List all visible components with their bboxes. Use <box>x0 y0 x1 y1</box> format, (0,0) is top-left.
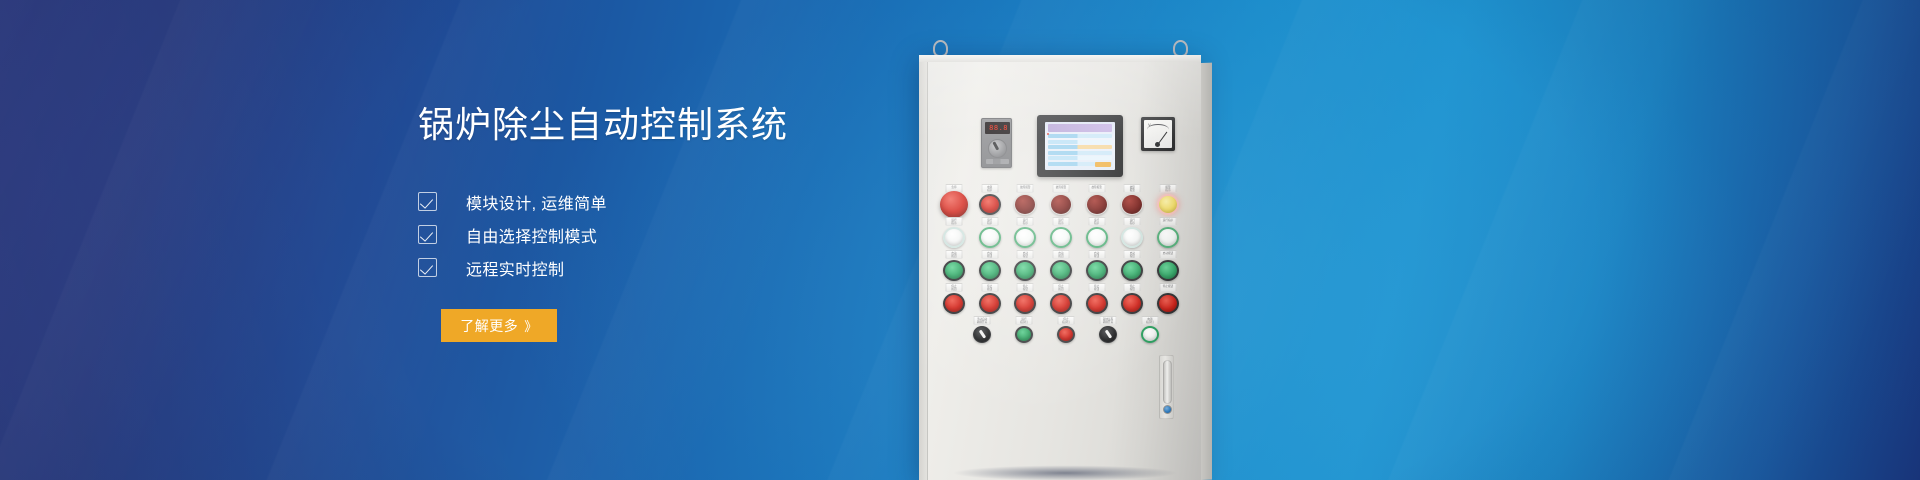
start-button[interactable]: 启动 按钮 <box>1121 259 1143 281</box>
hmi-data-row <box>1048 134 1112 138</box>
hmi-screen <box>1045 122 1115 170</box>
hero-copy: 锅炉除尘自动控制系统 模块设计, 运维简单 自由选择控制模式 远程实时控制 了解… <box>418 104 938 342</box>
vfd-digits: 88.8 <box>989 124 1008 132</box>
indicator-lamp[interactable]: 运行 指示 <box>1050 226 1072 248</box>
button-label: 启动 按钮 <box>1124 250 1141 259</box>
button-label: 运行 指示 <box>1124 217 1141 226</box>
button-cap <box>1057 326 1075 343</box>
cabinet-body: 88.8 <box>919 55 1201 480</box>
stop-button[interactable]: 停止 按钮 <box>943 292 965 314</box>
button-cap <box>943 227 965 248</box>
meter-hub <box>1155 142 1160 147</box>
stop-button[interactable]: 停止 按钮 <box>1086 292 1108 314</box>
indicator-lamp[interactable]: 停止 指示灯 <box>1057 325 1075 343</box>
stop-button[interactable]: 停止 按钮 <box>1121 292 1143 314</box>
button-cap <box>1086 194 1108 215</box>
hero-banner: 锅炉除尘自动控制系统 模块设计, 运维简单 自由选择控制模式 远程实时控制 了解… <box>0 0 1920 480</box>
button-label: 启动 按钮 <box>1052 250 1069 259</box>
indicator-lamp[interactable]: 故障 报警 <box>1121 193 1143 215</box>
button-cap <box>1121 293 1143 314</box>
stop-button[interactable]: 停止 按钮 <box>1014 292 1036 314</box>
list-item: 自由选择控制模式 <box>418 218 938 251</box>
button-label: 停止 按钮 <box>1124 283 1141 292</box>
stop-button[interactable]: 停止按钮 <box>1157 292 1179 314</box>
indicator-lamp[interactable]: 电源 指示灯 <box>1141 325 1159 343</box>
button-label: 运行 指示 <box>1088 217 1105 226</box>
button-label: 故障报警 <box>1017 184 1034 193</box>
button-cap <box>979 227 1001 248</box>
button-label: 启动 按钮 <box>1017 250 1034 259</box>
hmi-touch-panel <box>1037 115 1123 177</box>
checkbox-icon <box>418 192 437 211</box>
button-label: 电源 指示 <box>981 184 998 193</box>
button-label: 故障报警 <box>1088 184 1105 193</box>
button-label: 启动 按钮 <box>946 250 963 259</box>
button-label: 停止 按钮 <box>946 283 963 292</box>
button-cap <box>1086 293 1108 314</box>
button-label: 手动自动 转换开关 <box>974 316 991 325</box>
stop-button[interactable]: 停止 按钮 <box>979 292 1001 314</box>
button-cap <box>943 260 965 281</box>
vfd-controller: 88.8 <box>981 118 1012 168</box>
indicator-lamp[interactable]: 运行 指示 <box>1121 226 1143 248</box>
hmi-screen-rows <box>1045 134 1115 166</box>
indicator-lamp[interactable]: 运行 指示灯 <box>1015 325 1033 343</box>
button-label: 停止 指示灯 <box>1058 316 1075 325</box>
learn-more-button[interactable]: 了解更多 》 <box>441 309 557 342</box>
button-label: 运行 指示 <box>1017 217 1034 226</box>
handle-bar <box>1163 360 1172 404</box>
indicator-lamp[interactable]: 报警 指示 <box>1157 193 1179 215</box>
vfd-knob-icon <box>988 139 1007 158</box>
button-label: 电源 指示灯 <box>1142 316 1159 325</box>
button-cap <box>1157 227 1179 248</box>
page-title: 锅炉除尘自动控制系统 <box>418 104 938 145</box>
meter-face: V <box>1144 120 1172 148</box>
button-label: 停止 按钮 <box>1017 283 1034 292</box>
feature-label: 模块设计, 运维简单 <box>466 190 607 214</box>
hmi-screen-title-bar <box>1048 124 1112 132</box>
button-row: 启动 按钮 启动 按钮 启动 按钮 启动 按钮 <box>943 259 1179 281</box>
button-cap <box>1099 326 1117 343</box>
selector-switch[interactable]: 就地远程 转换开关 <box>1099 325 1117 343</box>
button-label: 运行 指示 <box>1052 217 1069 226</box>
button-cap <box>1050 260 1072 281</box>
vfd-buttons <box>986 159 1009 164</box>
button-row: 手动自动 转换开关 运行 指示灯 停止 指示灯 就地远程 转换开关 <box>943 325 1179 347</box>
button-label: 停止 按钮 <box>981 283 998 292</box>
hmi-screen-button <box>1095 162 1111 167</box>
button-cap <box>1086 227 1108 248</box>
button-cap <box>1014 293 1036 314</box>
button-cap <box>1050 194 1072 215</box>
stop-button[interactable]: 停止 按钮 <box>1050 292 1072 314</box>
checkbox-icon <box>418 225 437 244</box>
button-label: 故障报警 <box>1052 184 1069 193</box>
indicator-lamp[interactable]: 运行 指示 <box>979 226 1001 248</box>
feature-label: 自由选择控制模式 <box>466 223 597 247</box>
button-cap <box>943 293 965 314</box>
cabinet-side-panel <box>1201 63 1212 480</box>
button-label: 故障 报警 <box>1124 184 1141 193</box>
chevron-right-icon: 》 <box>524 316 538 335</box>
feature-list: 模块设计, 运维简单 自由选择控制模式 远程实时控制 <box>418 185 938 284</box>
list-item: 远程实时控制 <box>418 251 938 284</box>
button-label: 运行指示 <box>1159 217 1176 226</box>
start-button[interactable]: 启动 按钮 <box>1086 259 1108 281</box>
button-cap <box>1141 326 1159 343</box>
button-cap <box>1157 194 1179 215</box>
button-cap <box>1014 260 1036 281</box>
push-button-grid: 急停 电源 指示 故障报警 故障报警 <box>943 193 1179 358</box>
indicator-lamp[interactable]: 故障报警 <box>1050 193 1072 215</box>
button-label: 报警 指示 <box>1159 184 1176 193</box>
button-label: 启动按钮 <box>1159 250 1176 259</box>
button-row: 运行 指示 运行 指示 运行 指示 运行 指示 <box>943 226 1179 248</box>
button-label: 运行 指示 <box>981 217 998 226</box>
feature-label: 远程实时控制 <box>466 256 564 280</box>
button-label: 启动 按钮 <box>981 250 998 259</box>
indicator-lamp[interactable]: 运行指示 <box>1157 226 1179 248</box>
selector-switch[interactable]: 手动自动 转换开关 <box>973 325 991 343</box>
button-cap <box>979 293 1001 314</box>
hmi-data-row <box>1048 140 1112 144</box>
cabinet-door-handle[interactable] <box>1159 355 1174 419</box>
vfd-display: 88.8 <box>985 122 1010 134</box>
button-label: 启动 按钮 <box>1088 250 1105 259</box>
start-button[interactable]: 启动按钮 <box>1157 259 1179 281</box>
hmi-data-row <box>1048 151 1112 155</box>
learn-more-label: 了解更多 <box>460 316 518 336</box>
button-cap <box>1014 227 1036 248</box>
button-label: 运行 指示 <box>946 217 963 226</box>
indicator-lamp[interactable]: 电源 指示 <box>979 193 1001 215</box>
button-cap <box>940 191 968 218</box>
analog-voltmeter: V <box>1141 117 1175 151</box>
control-cabinet-image: 88.8 <box>910 40 1210 480</box>
button-row: 急停 电源 指示 故障报警 故障报警 <box>943 193 1179 215</box>
emergency-stop-button[interactable]: 急停 <box>943 193 965 215</box>
indicator-lamp[interactable]: 故障报警 <box>1014 193 1036 215</box>
start-button[interactable]: 启动 按钮 <box>943 259 965 281</box>
button-label: 就地远程 转换开关 <box>1100 316 1117 325</box>
button-cap <box>973 326 991 343</box>
indicator-lamp[interactable]: 运行 指示 <box>943 226 965 248</box>
start-button[interactable]: 启动 按钮 <box>1050 259 1072 281</box>
button-row: 停止 按钮 停止 按钮 停止 按钮 停止 按钮 <box>943 292 1179 314</box>
indicator-lamp[interactable]: 运行 指示 <box>1014 226 1036 248</box>
button-cap <box>1121 194 1143 215</box>
lock-icon[interactable] <box>1163 405 1172 414</box>
button-cap <box>1014 194 1036 215</box>
button-cap <box>1157 293 1179 314</box>
button-cap <box>1121 227 1143 248</box>
hmi-data-row <box>1048 156 1112 160</box>
cabinet-floor-shadow <box>905 462 1225 480</box>
indicator-lamp[interactable]: 运行 指示 <box>1086 226 1108 248</box>
button-label: 运行 指示灯 <box>1016 316 1033 325</box>
start-button[interactable]: 启动 按钮 <box>979 259 1001 281</box>
button-cap <box>979 260 1001 281</box>
button-cap <box>1050 227 1072 248</box>
list-item: 模块设计, 运维简单 <box>418 185 938 218</box>
hmi-data-row <box>1048 145 1112 149</box>
checkbox-icon <box>418 258 437 277</box>
start-button[interactable]: 启动 按钮 <box>1014 259 1036 281</box>
button-label: 停止按钮 <box>1159 283 1176 292</box>
hmi-power-led-icon <box>1047 133 1049 135</box>
button-cap <box>1015 326 1033 343</box>
button-cap <box>1157 260 1179 281</box>
button-label: 停止 按钮 <box>1052 283 1069 292</box>
button-cap <box>1050 293 1072 314</box>
button-cap <box>1121 260 1143 281</box>
button-label: 停止 按钮 <box>1088 283 1105 292</box>
indicator-lamp[interactable]: 故障报警 <box>1086 193 1108 215</box>
button-cap <box>1086 260 1108 281</box>
button-cap <box>979 194 1001 215</box>
